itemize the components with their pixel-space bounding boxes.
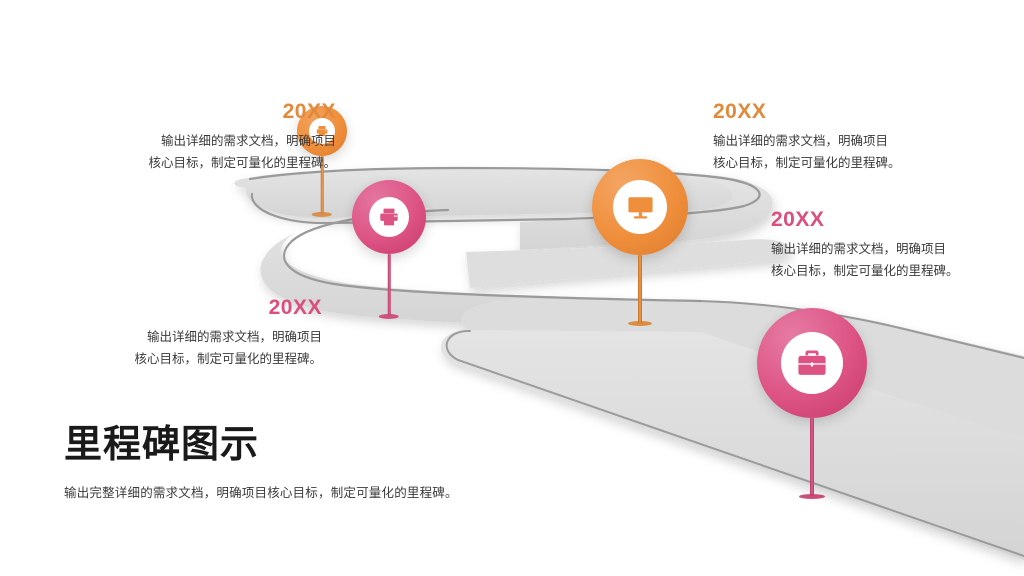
- milestone-text-1: 20XX 输出详细的需求文档，明确项目 核心目标，制定可量化的里程碑。: [36, 100, 336, 175]
- title-block: 里程碑图示 输出完整详细的需求文档，明确项目核心目标，制定可量化的里程碑。: [64, 424, 458, 501]
- printer-icon: [378, 206, 400, 228]
- milestone-body-3: 输出详细的需求文档，明确项目 核心目标，制定可量化的里程碑。: [713, 131, 1013, 175]
- milestone-year-1: 20XX: [36, 100, 336, 123]
- milestone-stem-2: [388, 254, 391, 316]
- road-edges-lower: [447, 301, 1024, 556]
- milestone-ring-4[interactable]: [757, 308, 867, 418]
- milestone-year-2: 20XX: [18, 296, 322, 319]
- milestone-body-1: 输出详细的需求文档，明确项目 核心目标，制定可量化的里程碑。: [36, 131, 336, 175]
- briefcase-icon: [795, 346, 829, 380]
- milestone-slide: 20XX 输出详细的需求文档，明确项目 核心目标，制定可量化的里程碑。 20XX…: [0, 0, 1024, 576]
- page-subtitle: 输出完整详细的需求文档，明确项目核心目标，制定可量化的里程碑。: [64, 482, 458, 501]
- page-title: 里程碑图示: [64, 424, 458, 468]
- milestone-body-4: 输出详细的需求文档，明确项目 核心目标，制定可量化的里程碑。: [771, 239, 1024, 283]
- milestone-text-3: 20XX 输出详细的需求文档，明确项目 核心目标，制定可量化的里程碑。: [713, 100, 1013, 175]
- milestone-icon-wrap-3: [613, 180, 667, 234]
- milestone-stem-4: [810, 418, 814, 496]
- milestone-body-2: 输出详细的需求文档，明确项目 核心目标，制定可量化的里程碑。: [18, 327, 322, 371]
- milestone-marker-4[interactable]: [757, 308, 867, 418]
- milestone-icon-wrap-4: [781, 332, 843, 394]
- milestone-stem-3: [638, 255, 642, 323]
- milestone-text-2: 20XX 输出详细的需求文档，明确项目 核心目标，制定可量化的里程碑。: [18, 296, 322, 371]
- milestone-ring-2[interactable]: [352, 180, 426, 254]
- monitor-icon: [626, 193, 655, 222]
- milestone-icon-wrap-2: [369, 197, 409, 237]
- milestone-text-4: 20XX 输出详细的需求文档，明确项目 核心目标，制定可量化的里程碑。: [771, 208, 1024, 283]
- milestone-marker-3[interactable]: [592, 159, 688, 255]
- milestone-ring-3[interactable]: [592, 159, 688, 255]
- milestone-year-4: 20XX: [771, 208, 1024, 231]
- milestone-marker-2[interactable]: [352, 180, 426, 254]
- milestone-year-3: 20XX: [713, 100, 1013, 123]
